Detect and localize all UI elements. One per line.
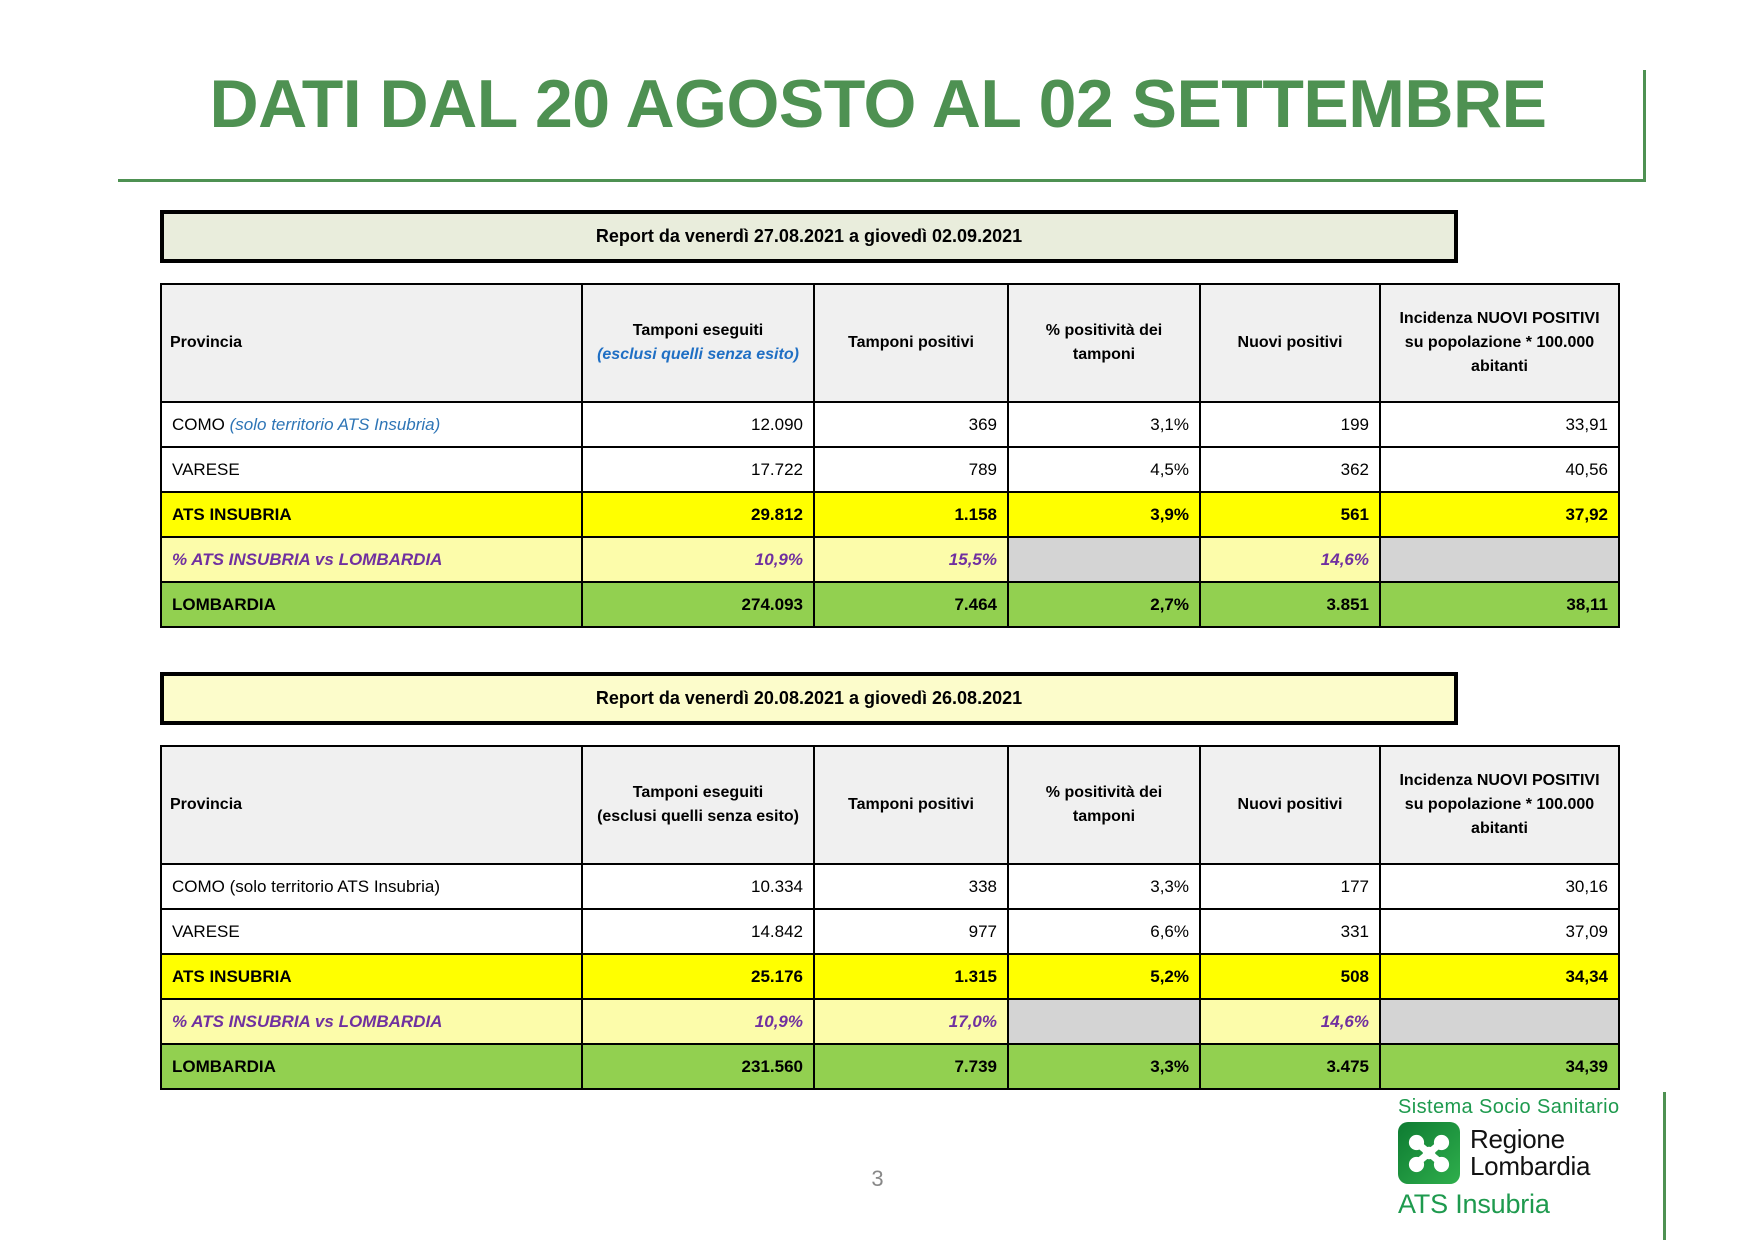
cell-pct-positivita: 3,9%: [1008, 492, 1200, 537]
th-provincia: Provincia: [161, 746, 582, 864]
cell-nuovi-positivi: 508: [1200, 954, 1380, 999]
cell-tamponi-eseguiti: 17.722: [582, 447, 814, 492]
regione-lombardia-flower-icon: [1398, 1122, 1460, 1184]
cell-pct-positivita: 6,6%: [1008, 909, 1200, 954]
cell-pct-positivita: 4,5%: [1008, 447, 1200, 492]
cell-tamponi-eseguiti: 29.812: [582, 492, 814, 537]
report-banner-1-text: Report da venerdì 27.08.2021 a giovedì 0…: [596, 226, 1022, 247]
th-pct-positivita: % positività dei tamponi: [1008, 284, 1200, 402]
title-right-rule: [1643, 70, 1646, 182]
report-table-1: Provincia Tamponi eseguiti (esclusi quel…: [160, 283, 1620, 628]
cell-incidenza-empty: [1380, 537, 1619, 582]
th-nuovi-positivi: Nuovi positivi: [1200, 284, 1380, 402]
logo-main-row: Regione Lombardia: [1398, 1122, 1653, 1184]
table-row-lombardia: LOMBARDIA 231.560 7.739 3,3% 3.475 34,39: [161, 1044, 1619, 1089]
cell-nuovi-positivi: 331: [1200, 909, 1380, 954]
cell-incidenza-empty: [1380, 999, 1619, 1044]
cell-incidenza: 34,34: [1380, 954, 1619, 999]
th-pct-positivita: % positività dei tamponi: [1008, 746, 1200, 864]
th-provincia: Provincia: [161, 284, 582, 402]
report-table-2: Provincia Tamponi eseguiti (esclusi quel…: [160, 745, 1620, 1090]
cell-nuovi-positivi: 177: [1200, 864, 1380, 909]
cell-incidenza: 30,16: [1380, 864, 1619, 909]
table-row-lombardia: LOMBARDIA 274.093 7.464 2,7% 3.851 38,11: [161, 582, 1619, 627]
logo-top-line: Sistema Socio Sanitario: [1398, 1096, 1653, 1118]
row-label: % ATS INSUBRIA vs LOMBARDIA: [161, 537, 582, 582]
cell-nuovi-positivi: 199: [1200, 402, 1380, 447]
table-row-ats-insubria: ATS INSUBRIA 29.812 1.158 3,9% 561 37,92: [161, 492, 1619, 537]
table-row-pct-vs-lombardia: % ATS INSUBRIA vs LOMBARDIA 10,9% 17,0% …: [161, 999, 1619, 1044]
cell-pct-positivita: 2,7%: [1008, 582, 1200, 627]
cell-pct-positivita-empty: [1008, 999, 1200, 1044]
row-label: LOMBARDIA: [161, 1044, 582, 1089]
cell-tamponi-eseguiti: 10,9%: [582, 999, 814, 1044]
cell-pct-positivita: 3,3%: [1008, 864, 1200, 909]
report-banner-1: Report da venerdì 27.08.2021 a giovedì 0…: [160, 210, 1458, 263]
logo-bottom-line: ATS Insubria: [1398, 1189, 1653, 1220]
cell-tamponi-eseguiti: 10.334: [582, 864, 814, 909]
cell-tamponi-positivi: 789: [814, 447, 1008, 492]
table-row: COMO (solo territorio ATS Insubria) 10.3…: [161, 864, 1619, 909]
row-label: LOMBARDIA: [161, 582, 582, 627]
cell-incidenza: 37,92: [1380, 492, 1619, 537]
logo-word-regione: Regione: [1470, 1126, 1590, 1153]
cell-tamponi-positivi: 17,0%: [814, 999, 1008, 1044]
row-label-note: (solo territorio ATS Insubria): [230, 415, 441, 434]
logo-word-lombardia: Lombardia: [1470, 1153, 1590, 1180]
th-incidenza: Incidenza NUOVI POSITIVI su popolazione …: [1380, 284, 1619, 402]
table-row: VARESE 17.722 789 4,5% 362 40,56: [161, 447, 1619, 492]
report-banner-2-text: Report da venerdì 20.08.2021 a giovedì 2…: [596, 688, 1022, 709]
cell-tamponi-positivi: 1.158: [814, 492, 1008, 537]
th-provincia-label: Provincia: [170, 334, 242, 351]
cell-tamponi-eseguiti: 274.093: [582, 582, 814, 627]
cell-nuovi-positivi: 362: [1200, 447, 1380, 492]
cell-tamponi-eseguiti: 14.842: [582, 909, 814, 954]
cell-tamponi-positivi: 369: [814, 402, 1008, 447]
cell-nuovi-positivi: 3.851: [1200, 582, 1380, 627]
cell-tamponi-positivi: 338: [814, 864, 1008, 909]
row-label: ATS INSUBRIA: [161, 492, 582, 537]
table-header-row: Provincia Tamponi eseguiti (esclusi quel…: [161, 284, 1619, 402]
th-tamponi-eseguiti: Tamponi eseguiti (esclusi quelli senza e…: [582, 746, 814, 864]
report-banner-2: Report da venerdì 20.08.2021 a giovedì 2…: [160, 672, 1458, 725]
th-tamponi-eseguiti-label: Tamponi eseguiti: [591, 781, 805, 805]
row-label: ATS INSUBRIA: [161, 954, 582, 999]
cell-pct-positivita: 5,2%: [1008, 954, 1200, 999]
cell-tamponi-eseguiti: 25.176: [582, 954, 814, 999]
cell-pct-positivita: 3,1%: [1008, 402, 1200, 447]
th-provincia-label: Provincia: [170, 796, 242, 813]
cell-nuovi-positivi: 561: [1200, 492, 1380, 537]
table-row-ats-insubria: ATS INSUBRIA 25.176 1.315 5,2% 508 34,34: [161, 954, 1619, 999]
th-tamponi-positivi: Tamponi positivi: [814, 746, 1008, 864]
cell-incidenza: 34,39: [1380, 1044, 1619, 1089]
table-row: VARESE 14.842 977 6,6% 331 37,09: [161, 909, 1619, 954]
cell-tamponi-eseguiti: 231.560: [582, 1044, 814, 1089]
table-1-body: COMO (solo territorio ATS Insubria) 12.0…: [161, 402, 1619, 627]
row-label: COMO (solo territorio ATS Insubria): [161, 864, 582, 909]
cell-tamponi-positivi: 7.464: [814, 582, 1008, 627]
row-label-main: COMO: [172, 415, 225, 434]
cell-incidenza: 37,09: [1380, 909, 1619, 954]
table-1-header: Provincia Tamponi eseguiti (esclusi quel…: [161, 284, 1619, 402]
cell-incidenza: 33,91: [1380, 402, 1619, 447]
table-row-pct-vs-lombardia: % ATS INSUBRIA vs LOMBARDIA 10,9% 15,5% …: [161, 537, 1619, 582]
slide-root: DATI DAL 20 AGOSTO AL 02 SETTEMBRE Repor…: [0, 0, 1755, 1240]
cell-nuovi-positivi: 3.475: [1200, 1044, 1380, 1089]
cell-nuovi-positivi: 14,6%: [1200, 999, 1380, 1044]
cell-tamponi-eseguiti: 10,9%: [582, 537, 814, 582]
title-underline: [118, 179, 1646, 182]
th-tamponi-eseguiti-note: (esclusi quelli senza esito): [591, 343, 805, 367]
row-label: VARESE: [161, 909, 582, 954]
table-2-body: COMO (solo territorio ATS Insubria) 10.3…: [161, 864, 1619, 1089]
th-tamponi-eseguiti-label: Tamponi eseguiti: [591, 319, 805, 343]
cell-nuovi-positivi: 14,6%: [1200, 537, 1380, 582]
th-tamponi-positivi: Tamponi positivi: [814, 284, 1008, 402]
cell-tamponi-positivi: 977: [814, 909, 1008, 954]
cell-tamponi-eseguiti: 12.090: [582, 402, 814, 447]
cell-pct-positivita: 3,3%: [1008, 1044, 1200, 1089]
title-block: DATI DAL 20 AGOSTO AL 02 SETTEMBRE: [118, 62, 1646, 182]
logo-wordmark: Regione Lombardia: [1470, 1126, 1590, 1179]
page-title: DATI DAL 20 AGOSTO AL 02 SETTEMBRE: [118, 62, 1638, 147]
table-2-header: Provincia Tamponi eseguiti (esclusi quel…: [161, 746, 1619, 864]
cell-tamponi-positivi: 7.739: [814, 1044, 1008, 1089]
row-label: % ATS INSUBRIA vs LOMBARDIA: [161, 999, 582, 1044]
row-label: COMO (solo territorio ATS Insubria): [161, 402, 582, 447]
logo-right-rule: [1663, 1092, 1666, 1240]
cell-pct-positivita-empty: [1008, 537, 1200, 582]
table-row: COMO (solo territorio ATS Insubria) 12.0…: [161, 402, 1619, 447]
cell-incidenza: 38,11: [1380, 582, 1619, 627]
th-tamponi-eseguiti-note: (esclusi quelli senza esito): [591, 805, 805, 829]
th-incidenza: Incidenza NUOVI POSITIVI su popolazione …: [1380, 746, 1619, 864]
cell-tamponi-positivi: 15,5%: [814, 537, 1008, 582]
cell-tamponi-positivi: 1.315: [814, 954, 1008, 999]
th-nuovi-positivi: Nuovi positivi: [1200, 746, 1380, 864]
regione-lombardia-logo: Sistema Socio Sanitario Regione: [1398, 1096, 1653, 1220]
cell-incidenza: 40,56: [1380, 447, 1619, 492]
table-header-row: Provincia Tamponi eseguiti (esclusi quel…: [161, 746, 1619, 864]
th-tamponi-eseguiti: Tamponi eseguiti (esclusi quelli senza e…: [582, 284, 814, 402]
row-label: VARESE: [161, 447, 582, 492]
